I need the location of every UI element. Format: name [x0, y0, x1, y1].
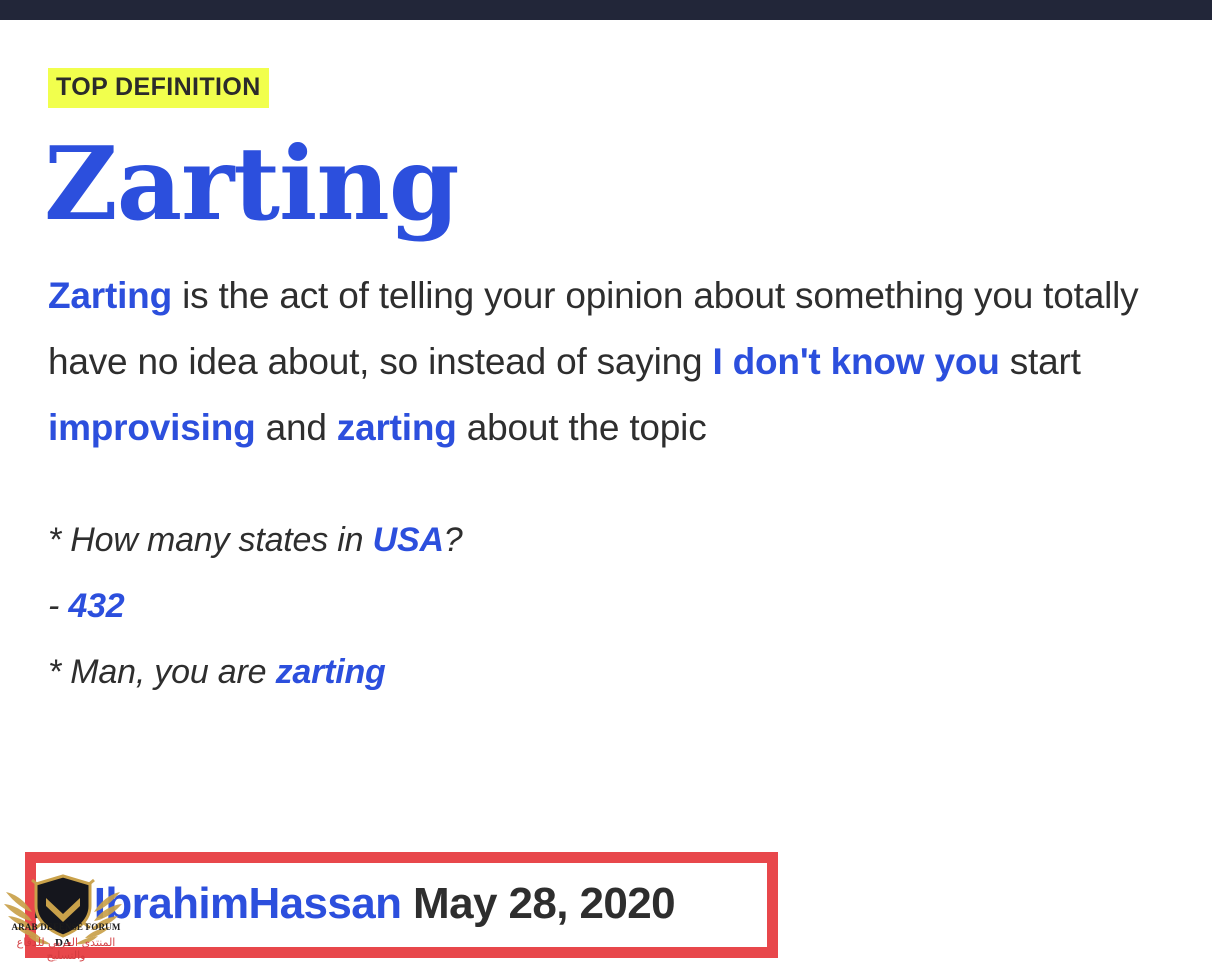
definition-keyword-zarting-2[interactable]: zarting [337, 407, 457, 448]
definition-keyword-zarting[interactable]: Zarting [48, 275, 172, 316]
definition-body-3: and [256, 407, 337, 448]
definition-body-2: start [1000, 341, 1081, 382]
top-navigation-bar [0, 0, 1212, 20]
definition-body-4: about the topic [457, 407, 707, 448]
badge-row: TOP DEFINITION [0, 20, 1212, 108]
example-line-1-pre: * How many states in [48, 521, 373, 559]
example-text: * How many states in USA? - 432 * Man, y… [48, 507, 1164, 705]
definition-page: TOP DEFINITION Zarting Zarting is the ac… [0, 20, 1212, 705]
example-line-1-post: ? [444, 521, 463, 559]
example-line-2: - 432 [48, 573, 1164, 639]
definition-keyword-idontknowyou[interactable]: I don't know you [712, 341, 999, 382]
example-keyword-usa[interactable]: USA [373, 521, 444, 559]
byline-author-link[interactable]: IbrahimHassan [94, 879, 402, 928]
example-line-1: * How many states in USA? [48, 507, 1164, 573]
example-line-2-pre: - [48, 587, 68, 625]
definition-keyword-improvising[interactable]: improvising [48, 407, 256, 448]
example-line-3-pre: * Man, you are [48, 653, 276, 691]
example-keyword-zarting[interactable]: zarting [276, 653, 386, 691]
byline-by-label: by [32, 879, 94, 928]
page-title: Zarting [44, 130, 1212, 237]
definition-text: Zarting is the act of telling your opini… [48, 263, 1164, 461]
byline-date: May 28, 2020 [401, 879, 675, 928]
example-keyword-432[interactable]: 432 [68, 587, 124, 625]
top-definition-badge: TOP DEFINITION [48, 68, 269, 108]
byline: by IbrahimHassan May 28, 2020 [32, 875, 675, 933]
example-line-3: * Man, you are zarting [48, 639, 1164, 705]
